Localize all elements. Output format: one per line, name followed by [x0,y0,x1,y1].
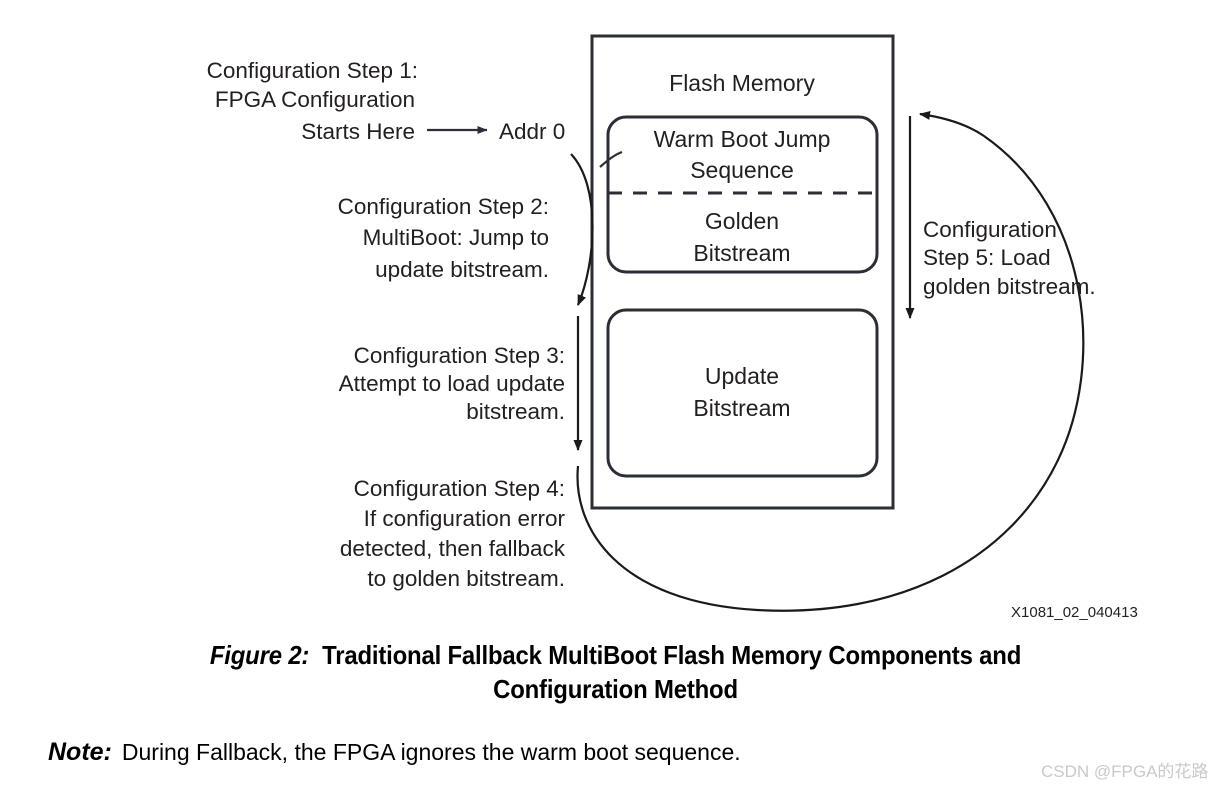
step5-label-line3: golden bitstream. [923,274,1096,299]
step5-label-line1: Configuration [923,217,1057,242]
step4-label-line3: detected, then fallback [340,536,566,561]
caption-line-1: Figure 2:Traditional Fallback MultiBoot … [49,638,1182,672]
caption-figure-number: Figure 2: [210,640,309,670]
update-bitstream-block-outline [608,310,877,476]
step5-curve-head [920,114,984,136]
step4-label-line4: to golden bitstream. [367,566,565,591]
step1-label-line2: FPGA Configuration [215,87,415,112]
warm-boot-label-line1: Warm Boot Jump [654,126,831,152]
caption-line-2: Configuration Method [49,672,1182,706]
golden-bitstream-label-line2: Bitstream [693,240,790,266]
step3-label-line3: bitstream. [466,399,565,424]
note-text: During Fallback, the FPGA ignores the wa… [122,739,741,765]
note-label: Note: [48,738,112,766]
update-bitstream-label-line2: Bitstream [693,395,790,421]
figure-id-label: X1081_02_040413 [1011,604,1138,621]
step2-label-line1: Configuration Step 2: [338,194,549,219]
step4-label-line2: If configuration error [364,506,566,531]
step1-label-line3: Starts Here [301,119,415,144]
step4-label-line1: Configuration Step 4: [354,476,565,501]
step3-label-line2: Attempt to load update [339,371,565,396]
figure-caption: Figure 2:Traditional Fallback MultiBoot … [0,638,1231,706]
golden-bitstream-label-line1: Golden [705,208,779,234]
addr0-label: Addr 0 [499,119,565,144]
addr0-leader-line [600,152,622,167]
step2-curved-arrow [571,154,593,305]
step3-label-line1: Configuration Step 3: [354,343,565,368]
warm-boot-label-line2: Sequence [690,157,794,183]
step2-label-line2: MultiBoot: Jump to [363,225,549,250]
step1-label-line1: Configuration Step 1: [207,58,418,83]
step4-fallback-curve [578,136,1084,611]
step5-label-line2: Step 5: Load [923,245,1051,270]
csdn-watermark: CSDN @FPGA的花路 [1041,757,1208,782]
update-bitstream-label-line1: Update [705,363,779,389]
flash-memory-title: Flash Memory [669,70,815,96]
figure-container: Flash Memory Warm Boot Jump Sequence Gol… [0,0,1231,790]
step2-label-line3: update bitstream. [375,257,549,282]
figure-note: Note:During Fallback, the FPGA ignores t… [48,738,1048,767]
caption-title-part1: Traditional Fallback MultiBoot Flash Mem… [322,640,1021,670]
